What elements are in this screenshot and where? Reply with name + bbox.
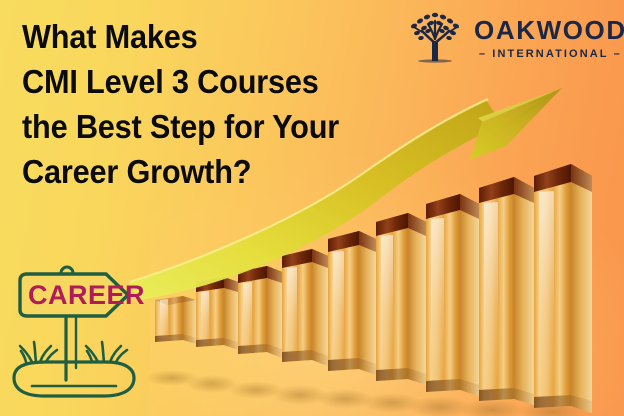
headline-line-1: What Makes bbox=[22, 14, 357, 59]
bar-9 bbox=[534, 164, 592, 413]
logo-wordmark: OAKWOOD bbox=[474, 16, 624, 44]
career-signpost[interactable]: CAREER bbox=[6, 258, 156, 410]
bar-2 bbox=[196, 277, 238, 350]
bar-6 bbox=[376, 213, 426, 385]
logo-text: OAKWOOD – INTERNATIONAL – bbox=[474, 14, 624, 61]
headline-line-2: CMI Level 3 Courses bbox=[22, 59, 357, 104]
bar-shadows bbox=[146, 370, 586, 416]
bar-1 bbox=[155, 296, 196, 344]
page-title: What Makes CMI Level 3 Courses the Best … bbox=[22, 14, 357, 194]
signpost-label: CAREER bbox=[28, 280, 145, 310]
poster-canvas: What Makes CMI Level 3 Courses the Best … bbox=[0, 0, 624, 416]
bar-3 bbox=[238, 266, 282, 358]
bar-5 bbox=[328, 231, 376, 375]
headline-line-4: Career Growth? bbox=[22, 149, 357, 194]
oak-tree-icon bbox=[404, 9, 466, 65]
brand-logo[interactable]: OAKWOOD – INTERNATIONAL – bbox=[404, 7, 616, 67]
bar-4 bbox=[282, 249, 328, 366]
bar-8 bbox=[479, 177, 534, 405]
headline-line-3: the Best Step for Your bbox=[22, 104, 357, 149]
bar-7 bbox=[426, 194, 479, 396]
logo-subtitle: – INTERNATIONAL – bbox=[474, 47, 624, 61]
